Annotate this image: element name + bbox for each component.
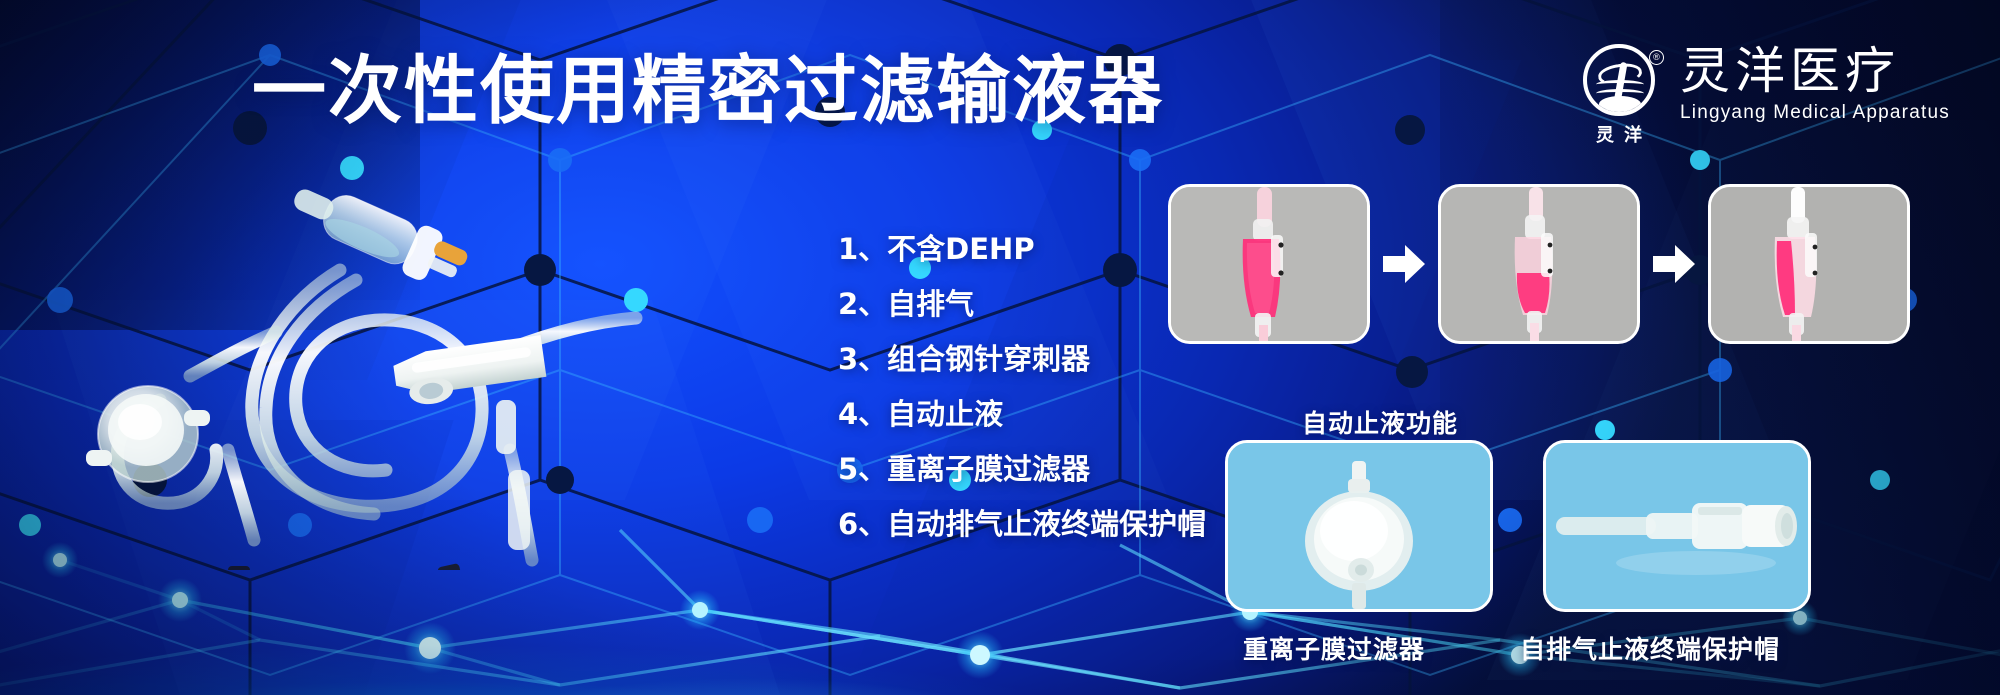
page-title: 一次性使用精密过滤输液器 bbox=[252, 48, 1164, 134]
photo-panel-auto-stop-step-2 bbox=[1438, 184, 1640, 344]
feature-list: 1、不含DEHP 2、自排气 3、组合钢针穿刺器 4、自动止液 5、重离子膜过滤… bbox=[838, 232, 1206, 562]
company-name-cn: 灵洋医疗 bbox=[1680, 44, 1950, 98]
photo-panel-heavy-ion-filter bbox=[1225, 440, 1493, 612]
photo-panel-auto-stop-step-3 bbox=[1708, 184, 1910, 344]
logo-emblem-icon: ® 灵洋 bbox=[1576, 44, 1662, 147]
infusion-set-product-photo bbox=[40, 150, 720, 570]
feature-item-4: 4、自动止液 bbox=[838, 397, 1206, 431]
feature-item-5: 5、重离子膜过滤器 bbox=[838, 452, 1206, 486]
caption-auto-stop: 自动止液功能 bbox=[1302, 404, 1458, 440]
arrow-right-icon-2 bbox=[1651, 243, 1697, 285]
registered-trademark-icon: ® bbox=[1649, 50, 1664, 65]
photo-panel-terminal-protect-cap bbox=[1543, 440, 1811, 612]
arrow-right-icon-1 bbox=[1381, 243, 1427, 285]
caption-heavy-ion-filter: 重离子膜过滤器 bbox=[1243, 630, 1425, 666]
caption-terminal-protect-cap: 自排气止液终端保护帽 bbox=[1520, 630, 1780, 666]
company-name-en: Lingyang Medical Apparatus bbox=[1680, 102, 1950, 124]
photo-panel-auto-stop-step-1 bbox=[1168, 184, 1370, 344]
feature-item-2: 2、自排气 bbox=[838, 287, 1206, 321]
product-banner: 一次性使用精密过滤输液器 ® 灵洋 灵洋医疗 Lingyang Medical … bbox=[0, 0, 2000, 695]
feature-item-6: 6、自动排气止液终端保护帽 bbox=[838, 507, 1206, 541]
brand-logo: ® 灵洋 灵洋医疗 Lingyang Medical Apparatus bbox=[1576, 44, 1950, 147]
feature-item-3: 3、组合钢针穿刺器 bbox=[838, 342, 1206, 376]
logo-emblem-subtext: 灵洋 bbox=[1576, 121, 1662, 147]
feature-item-1: 1、不含DEHP bbox=[838, 232, 1206, 266]
